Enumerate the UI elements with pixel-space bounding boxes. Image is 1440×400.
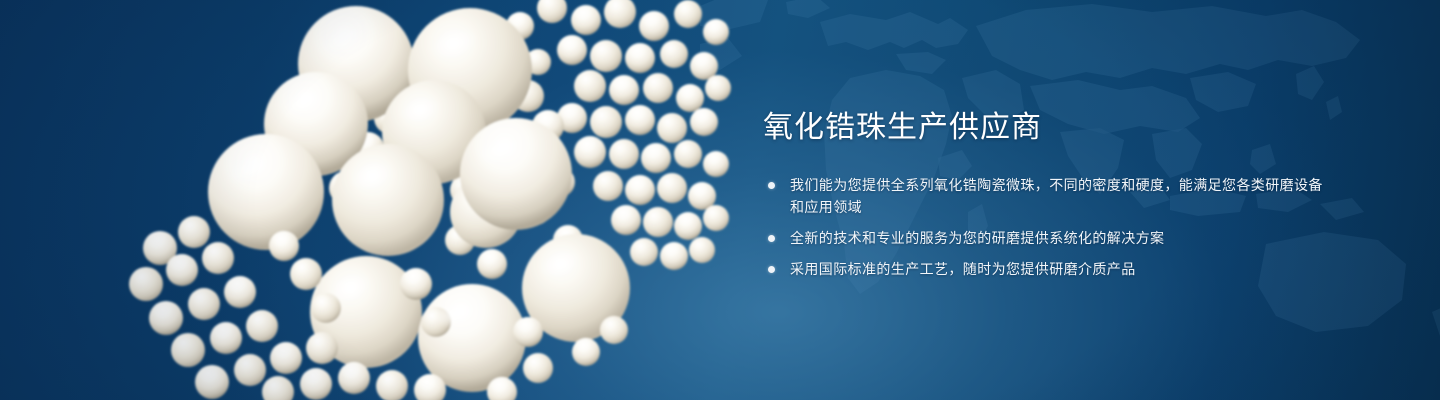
bullet-dot-icon [768, 235, 775, 242]
feature-text: 我们能为您提供全系列氧化锆陶瓷微珠，不同的密度和硬度，能满足您各类研磨设备和应用… [790, 174, 1323, 218]
bullet-dot-icon [768, 182, 775, 189]
banner-copy: 氧化锆珠生产供应商 我们能为您提供全系列氧化锆陶瓷微珠，不同的密度和硬度，能满足… [763, 108, 1323, 280]
hero-banner: 氧化锆珠生产供应商 我们能为您提供全系列氧化锆陶瓷微珠，不同的密度和硬度，能满足… [0, 0, 1440, 400]
list-item: 采用国际标准的生产工艺，随时为您提供研磨介质产品 [763, 258, 1323, 280]
feature-text: 全新的技术和专业的服务为您的研磨提供系统化的解决方案 [790, 227, 1323, 249]
feature-list: 我们能为您提供全系列氧化锆陶瓷微珠，不同的密度和硬度，能满足您各类研磨设备和应用… [763, 174, 1323, 280]
bullet-dot-icon [768, 266, 775, 273]
banner-headline: 氧化锆珠生产供应商 [763, 108, 1323, 148]
list-item: 我们能为您提供全系列氧化锆陶瓷微珠，不同的密度和硬度，能满足您各类研磨设备和应用… [763, 174, 1323, 218]
feature-text: 采用国际标准的生产工艺，随时为您提供研磨介质产品 [790, 258, 1323, 280]
list-item: 全新的技术和专业的服务为您的研磨提供系统化的解决方案 [763, 227, 1323, 249]
